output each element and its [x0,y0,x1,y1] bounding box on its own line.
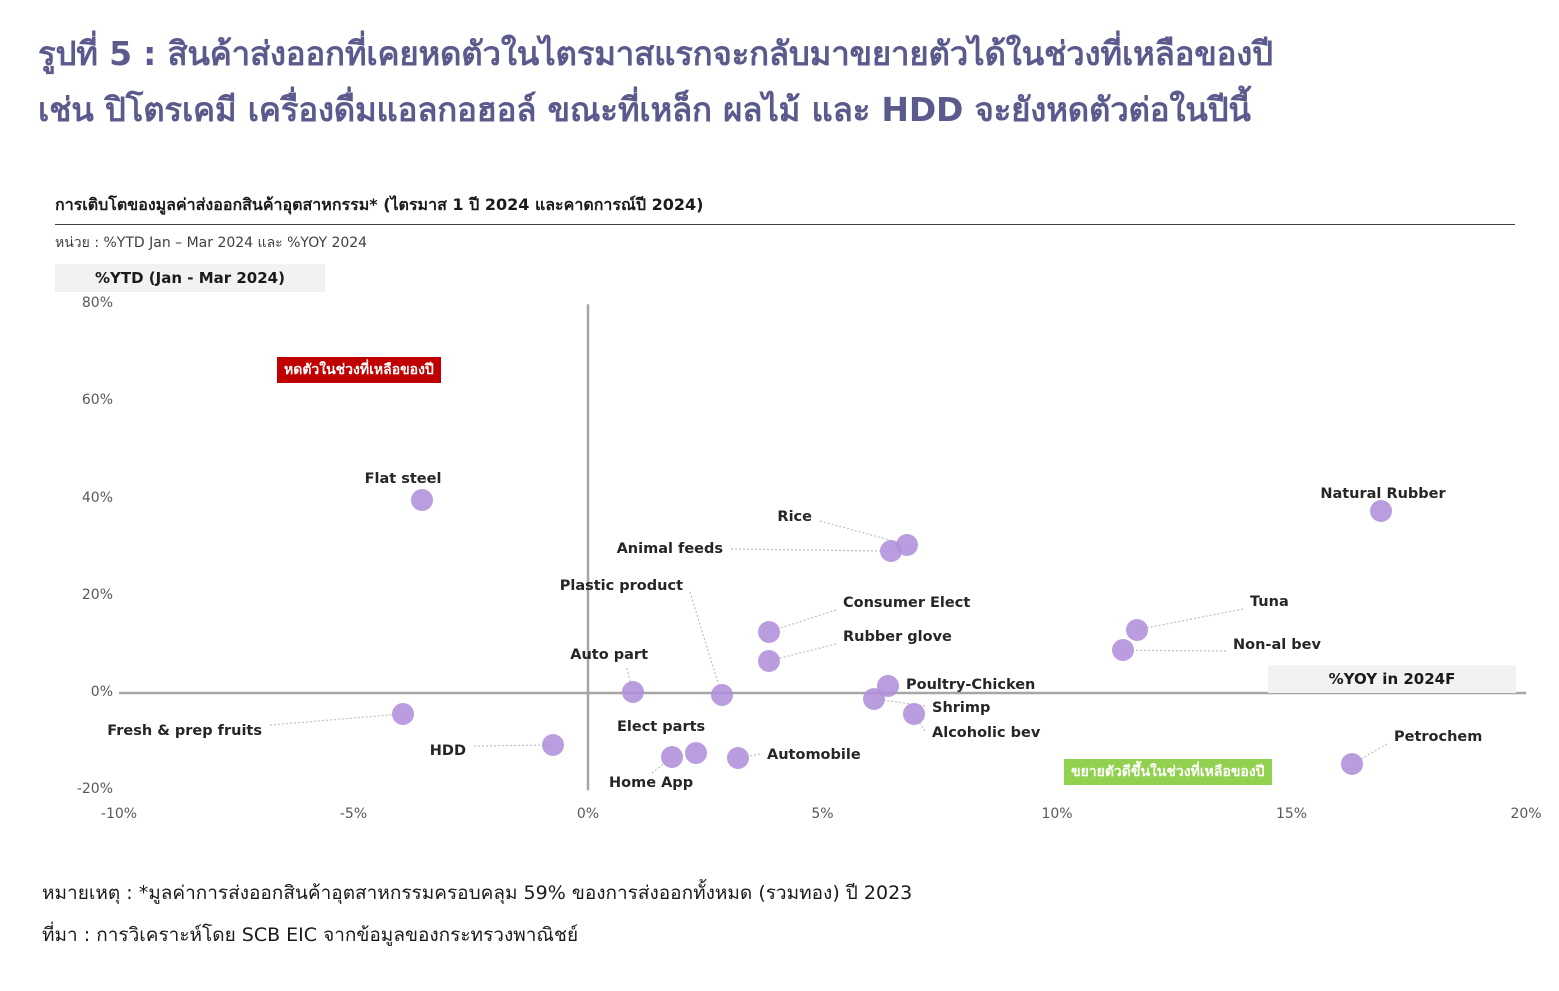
data-point-label: Automobile [767,747,861,763]
data-point-label: Non-al bev [1233,637,1321,653]
data-point-label: Consumer Elect [843,595,970,611]
data-point[interactable] [1370,500,1392,522]
x-axis-tick-label: 15% [1257,806,1327,822]
data-point-label: Animal feeds [617,541,723,557]
data-point[interactable] [903,703,925,725]
data-point[interactable] [758,650,780,672]
data-point[interactable] [542,734,564,756]
data-point-label: Home App [609,775,693,791]
x-axis-tick-label: 10% [1022,806,1092,822]
y-axis-tick-label: 40% [53,490,113,506]
data-point-label: Auto part [570,647,648,663]
data-point[interactable] [411,489,433,511]
footnote-source: ที่มา : การวิเคราะห์โดย SCB EIC จากข้อมู… [42,914,1522,956]
data-point-label: Shrimp [932,700,990,716]
data-point[interactable] [392,703,414,725]
data-point-label: Alcoholic bev [932,725,1040,741]
data-point-label: Elect parts [617,719,705,735]
label-leader-line [270,714,403,725]
data-point[interactable] [1126,619,1148,641]
data-point-label: HDD [430,743,466,759]
y-axis-tick-label: 20% [53,587,113,603]
badge-contracting: หดตัวในช่วงที่เหลือของปี [277,357,441,383]
badge-expanding: ขยายตัวดีขึ้นในช่วงที่เหลือของปี [1064,759,1272,785]
data-point-label: Plastic product [560,578,683,594]
data-point[interactable] [863,688,885,710]
y-axis-series-label: %YTD (Jan - Mar 2024) [55,264,325,292]
data-point-label: Petrochem [1394,729,1482,745]
footnotes: หมายเหตุ : *มูลค่าการส่งออกสินค้าอุตสาหก… [42,872,1522,956]
plot-svg [0,0,1559,830]
data-point[interactable] [711,684,733,706]
label-leader-line [474,745,553,746]
data-point[interactable] [896,534,918,556]
y-axis-tick-label: 60% [53,392,113,408]
y-axis-tick-label: -20% [53,781,113,797]
x-axis-tick-label: 5% [788,806,858,822]
data-point[interactable] [758,621,780,643]
data-point-label: Natural Rubber [1320,486,1445,502]
label-leader-line [1137,609,1243,630]
scatter-plot: 80%60%40%20%0%-20%-10%-5%0%5%10%15%20%Fl… [0,0,1559,830]
x-axis-series-label: %YOY in 2024F [1268,665,1516,693]
x-axis-tick-label: 20% [1491,806,1559,822]
data-point[interactable] [622,681,644,703]
label-leader-line [690,592,722,695]
data-point-label: Fresh & prep fruits [107,723,262,739]
label-leader-line [1123,650,1226,651]
data-point-label: Tuna [1250,594,1289,610]
x-axis-tick-label: -5% [319,806,389,822]
data-point-label: Rice [777,509,812,525]
y-axis-tick-label: 80% [53,295,113,311]
footnote-note: หมายเหตุ : *มูลค่าการส่งออกสินค้าอุตสาหก… [42,872,1522,914]
data-point-label: Rubber glove [843,629,952,645]
x-axis-tick-label: 0% [553,806,623,822]
data-point-label: Flat steel [365,471,442,487]
y-axis-tick-label: 0% [53,684,113,700]
data-point-label: Poultry-Chicken [906,677,1035,693]
data-point[interactable] [1112,639,1134,661]
data-point[interactable] [685,742,707,764]
x-axis-tick-label: -10% [84,806,154,822]
label-leader-line [731,549,891,551]
